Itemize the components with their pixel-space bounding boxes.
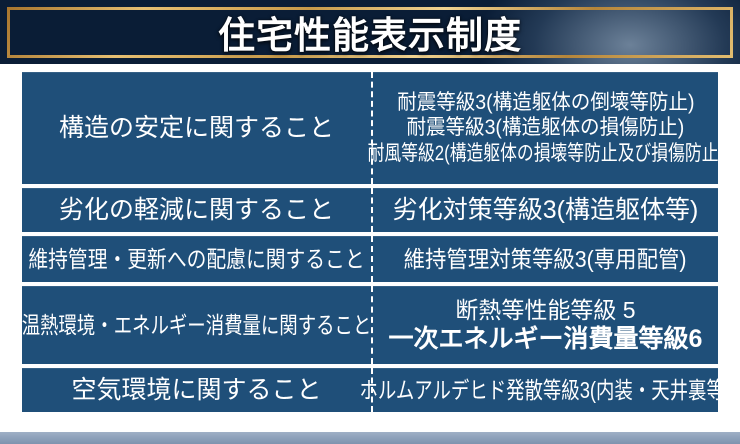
grade-item: 維持管理対策等級3(専用配管) (404, 245, 687, 273)
category-cell: 維持管理・更新への配慮に関すること (22, 236, 373, 282)
category-label: 空気環境に関すること (71, 375, 321, 406)
grade-cell: 維持管理対策等級3(専用配管) (373, 236, 718, 282)
category-cell: 劣化の軽減に関すること (22, 188, 373, 232)
grade-item: 一次エネルギー消費量等級6 (389, 324, 703, 355)
grade-item: 劣化対策等級3(構造躯体等) (393, 195, 699, 226)
grade-cell: 劣化対策等級3(構造躯体等) (373, 188, 718, 232)
category-label: 劣化の軽減に関すること (59, 195, 334, 226)
grade-cell: 断熱等性能等級 5 一次エネルギー消費量等級6 (373, 286, 718, 364)
category-cell: 温熱環境・エネルギー消費量に関すること (22, 286, 373, 364)
category-label: 維持管理・更新への配慮に関すること (28, 245, 364, 273)
table-row: 構造の安定に関すること 耐震等級3(構造躯体の倒壊等防止) 耐震等級3(構造躯体… (22, 72, 718, 184)
grade-item: 耐震等級3(構造躯体の倒壊等防止) (397, 90, 694, 116)
grade-item: 耐風等級2(構造躯体の損壊等防止及び損傷防止) (367, 141, 724, 167)
table-row: 空気環境に関すること ホルムアルデヒド発散等級3(内装・天井裏等) (22, 368, 718, 412)
performance-table: 構造の安定に関すること 耐震等級3(構造躯体の倒壊等防止) 耐震等級3(構造躯体… (22, 72, 718, 416)
table-row: 劣化の軽減に関すること 劣化対策等級3(構造躯体等) (22, 188, 718, 232)
category-label: 構造の安定に関すること (59, 113, 334, 144)
category-cell: 構造の安定に関すること (22, 72, 373, 184)
category-cell: 空気環境に関すること (22, 368, 373, 412)
title-banner: 住宅性能表示制度 (0, 0, 740, 64)
grade-cell: ホルムアルデヒド発散等級3(内装・天井裏等) (373, 368, 718, 412)
table-row: 維持管理・更新への配慮に関すること 維持管理対策等級3(専用配管) (22, 236, 718, 282)
grade-item: ホルムアルデヒド発散等級3(内装・天井裏等) (360, 376, 732, 404)
grade-item: 断熱等性能等級 5 (455, 296, 635, 324)
category-label: 温熱環境・エネルギー消費量に関すること (22, 311, 372, 339)
bottom-accent-strip (0, 432, 740, 444)
grade-cell: 耐震等級3(構造躯体の倒壊等防止) 耐震等級3(構造躯体の損傷防止) 耐風等級2… (373, 72, 718, 184)
page-title: 住宅性能表示制度 (0, 0, 740, 64)
grade-item: 耐震等級3(構造躯体の損傷防止) (407, 115, 685, 141)
table-row: 温熱環境・エネルギー消費量に関すること 断熱等性能等級 5 一次エネルギー消費量… (22, 286, 718, 364)
